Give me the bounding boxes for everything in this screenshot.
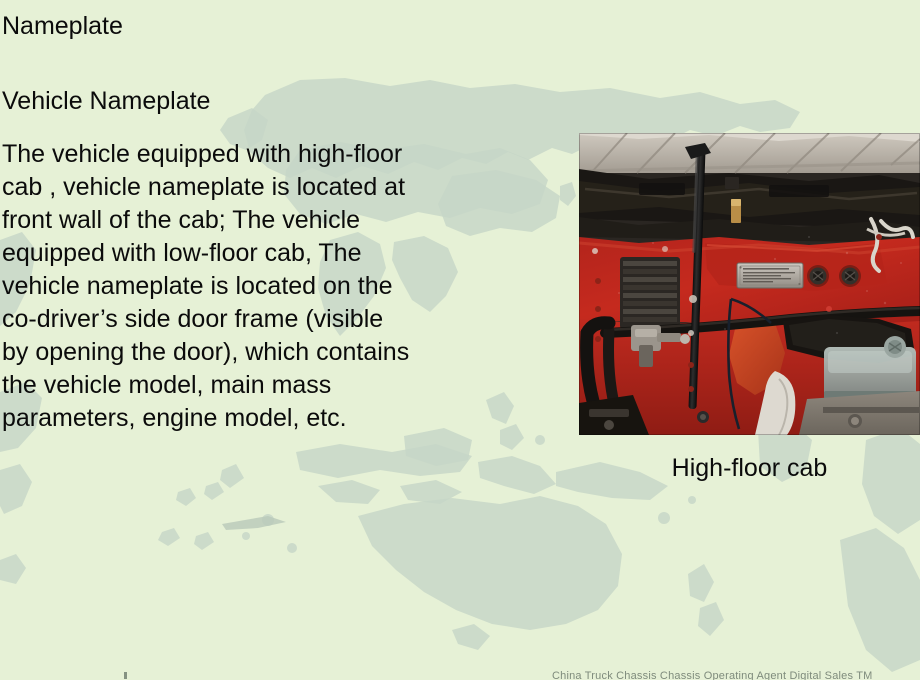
body-line: The vehicle equipped with high-floor: [2, 138, 470, 171]
slide-subtitle: Vehicle Nameplate: [0, 43, 470, 118]
body-line: equipped with low-floor cab, The: [2, 237, 470, 270]
presentation-slide: Nameplate Vehicle Nameplate The vehicle …: [0, 0, 920, 680]
footer-text: China Truck Chassis Chassis Operating Ag…: [552, 670, 873, 680]
footer-left-mark: [124, 672, 127, 679]
body-paragraph: The vehicle equipped with high-floor cab…: [0, 118, 470, 435]
body-line: cab , vehicle nameplate is located at: [2, 171, 470, 204]
body-line: co-driver’s side door frame (visible: [2, 303, 470, 336]
body-line: parameters, engine model, etc.: [2, 402, 470, 435]
page-title: Nameplate: [0, 0, 470, 43]
body-line: by opening the door), which contains: [2, 336, 470, 369]
truck-cab-photo: [579, 133, 920, 435]
body-line: the vehicle model, main mass: [2, 369, 470, 402]
photo-caption: High-floor cab: [579, 452, 920, 484]
body-line: front wall of the cab; The vehicle: [2, 204, 470, 237]
body-line: vehicle nameplate is located on the: [2, 270, 470, 303]
slide-text-column: Nameplate Vehicle Nameplate The vehicle …: [0, 0, 470, 435]
